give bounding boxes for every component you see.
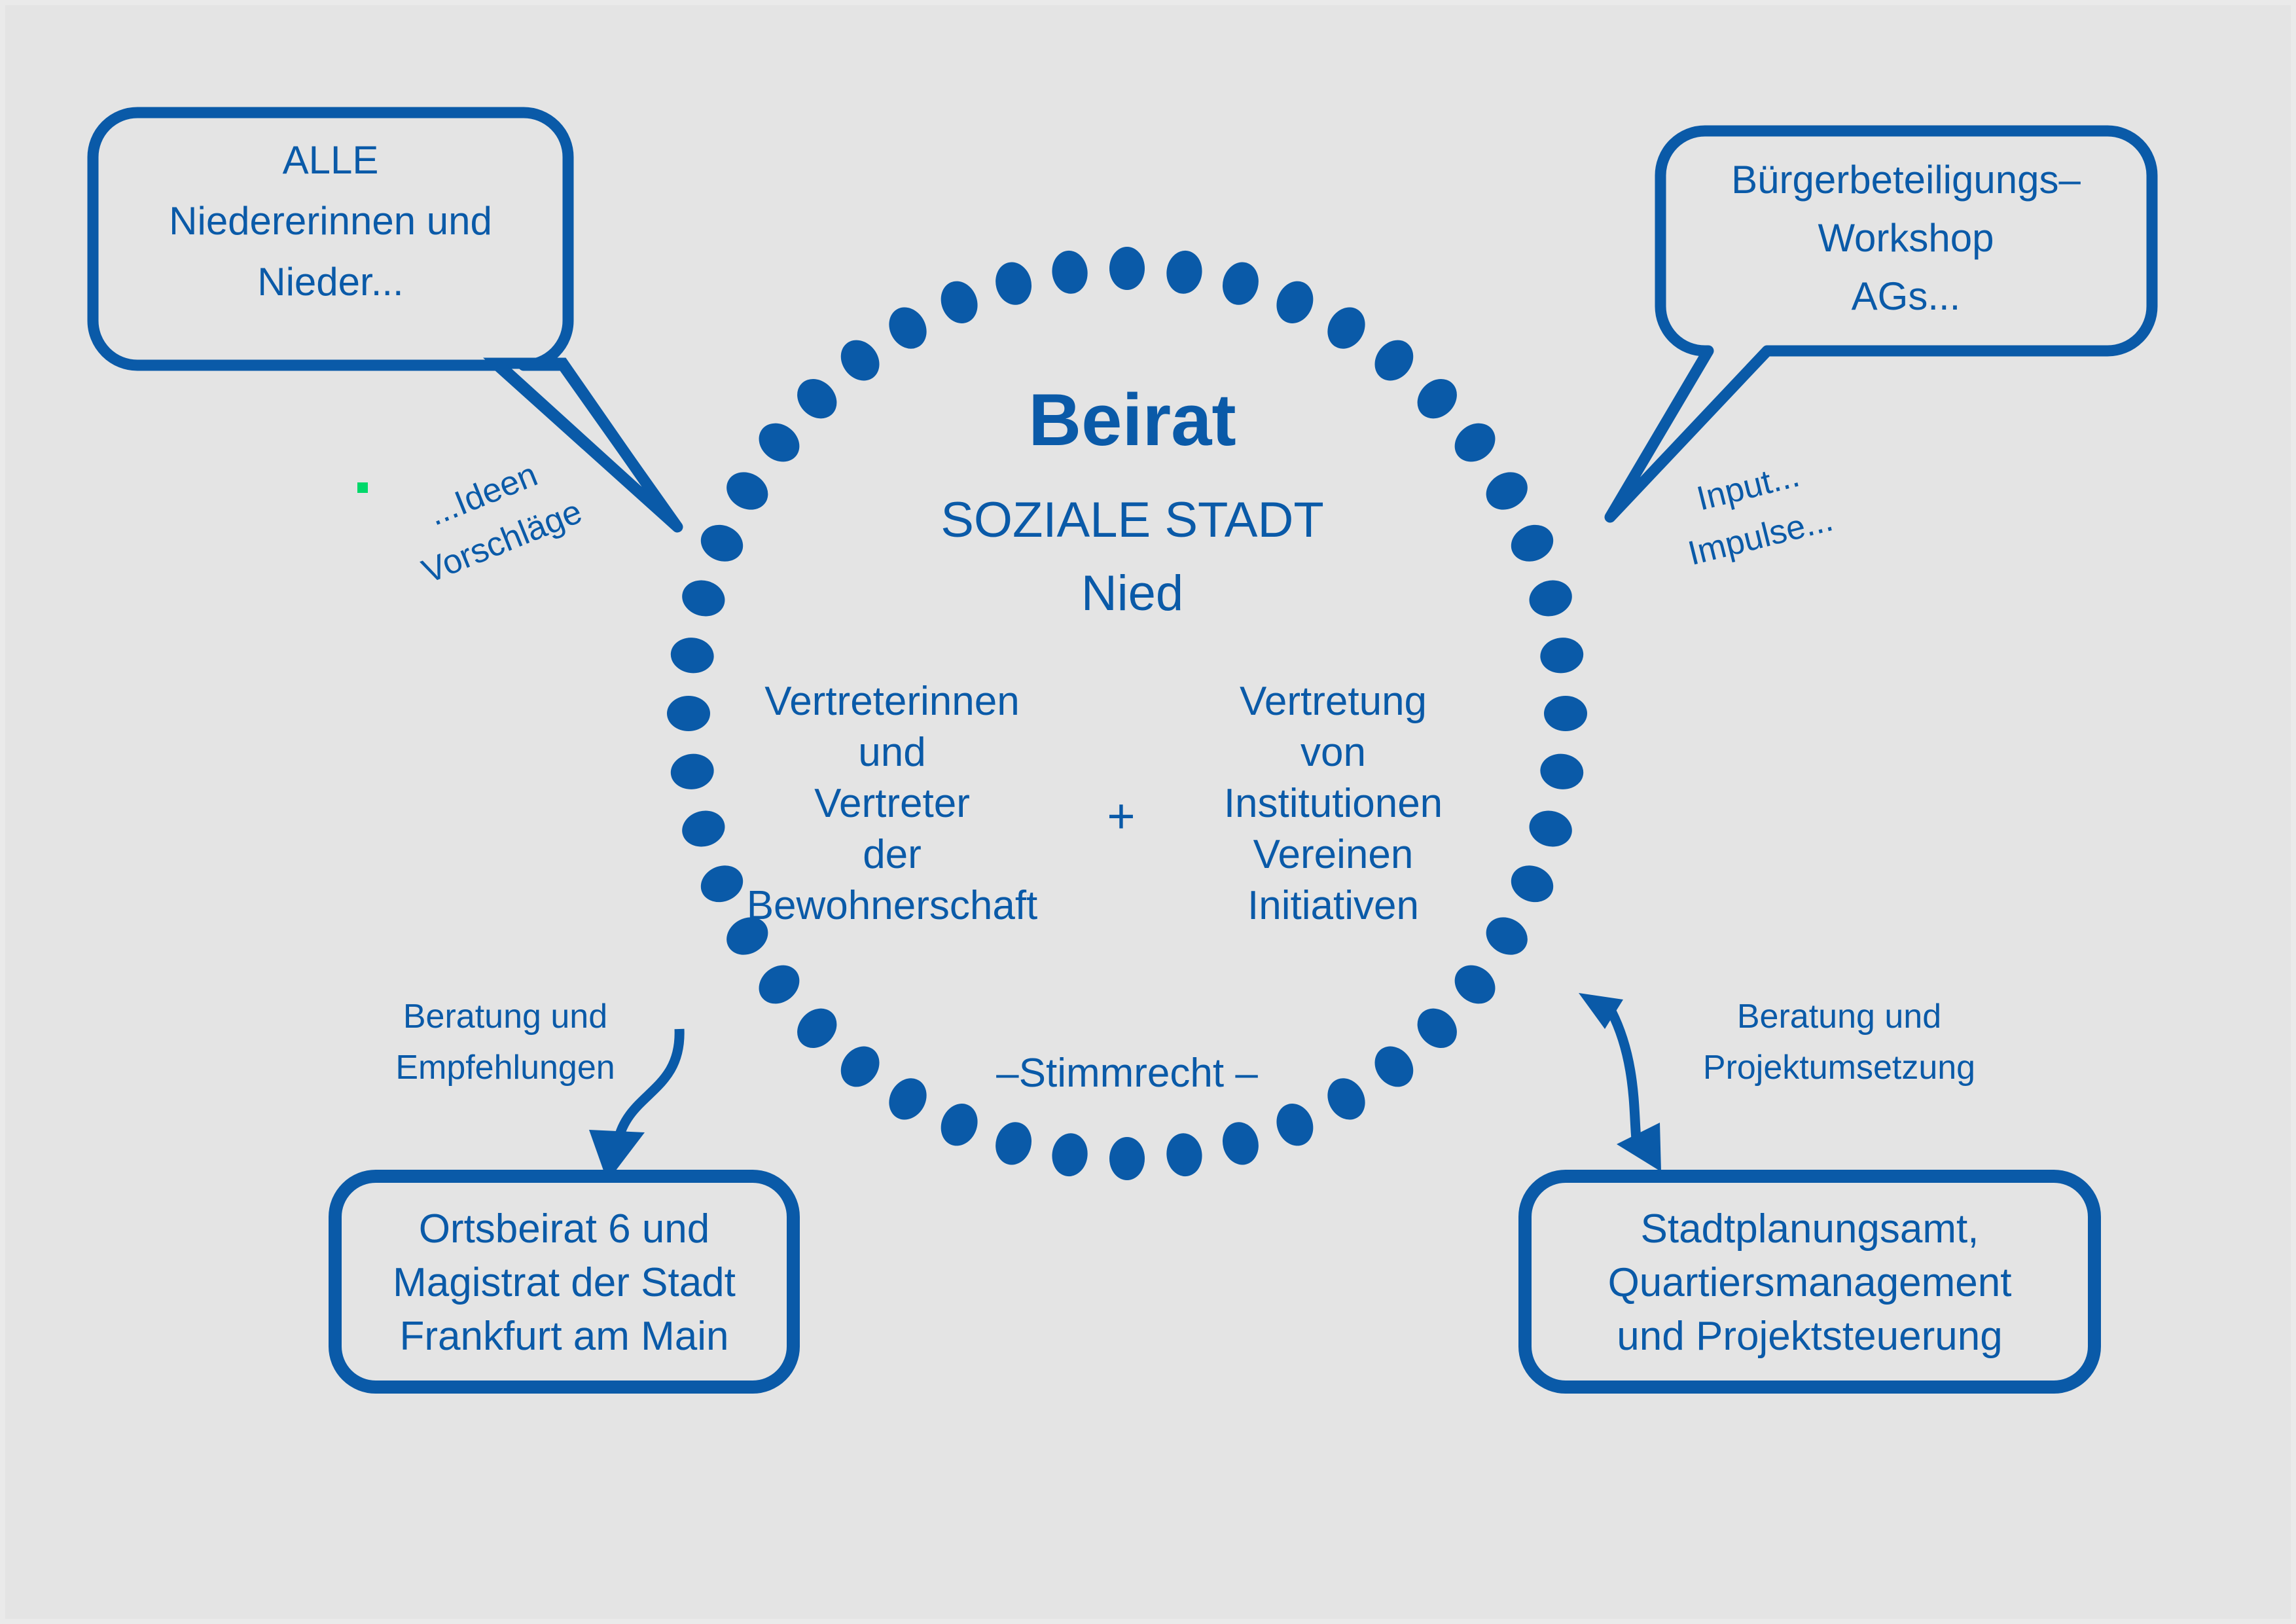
ring-dot [1164, 1131, 1204, 1178]
ring-dot [1505, 518, 1559, 568]
bubble-right-line-2: Workshop [1818, 216, 1994, 260]
left-column-line-4: der [863, 832, 922, 877]
ring-dot [1367, 1039, 1421, 1094]
box-ortsbeirat[interactable]: Ortsbeirat 6 und Magistrat der Stadt Fra… [335, 1176, 793, 1387]
beirat-diagram: ALLE Niedererinnen und Nieder... Bürgerb… [0, 0, 2296, 1624]
left-column-line-2: und [858, 730, 925, 775]
bubble-right-line-1: Bürgerbeteiligungs– [1731, 158, 2081, 202]
ring-dot [935, 1098, 984, 1151]
annotation-beratung-right-line-1: Beratung und [1737, 998, 1941, 1036]
right-column-line-2: von [1300, 730, 1366, 775]
ring-dot [751, 957, 807, 1011]
speech-bubble-alle-niedererinnen[interactable]: ALLE Niedererinnen und Nieder... [93, 113, 677, 527]
annotation-beratung-empfehlungen: Beratung und Empfehlungen [395, 998, 679, 1182]
ring-dot [1525, 575, 1576, 621]
ring-dot [1479, 910, 1534, 962]
ring-dot [1538, 635, 1585, 676]
center-title: Beirat [1028, 379, 1236, 461]
box-ortsbeirat-line-2: Magistrat der Stadt [393, 1260, 736, 1305]
ring-dot [1525, 806, 1576, 851]
ring-dot [1049, 249, 1090, 296]
box-stadtplanungsamt-line-3: und Projektsteuerung [1617, 1314, 2002, 1359]
center-subtitle-line-1: SOZIALE STADT [941, 492, 1324, 548]
right-arrow-shaft [1611, 1011, 1636, 1139]
ring-dot [833, 1039, 888, 1094]
left-column-line-5: Bewohnerschaft [747, 883, 1038, 928]
ring-dot [789, 371, 845, 427]
speech-bubble-outline-left [93, 113, 677, 527]
box-stadtplanungsamt[interactable]: Stadtplanungsamt, Quartiersmanagement un… [1525, 1176, 2094, 1387]
center-content: Beirat SOZIALE STADT Nied Vertreterinnen… [747, 379, 1443, 1096]
annotation-beratung-right-line-2: Projektumsetzung [1703, 1049, 1975, 1087]
annotation-ideen-vorschlaege: ...Ideen Vorschläge [357, 445, 587, 590]
speech-bubble-buergerbeteiligung[interactable]: Bürgerbeteiligungs– Workshop AGs... [1610, 131, 2152, 517]
bubble-left-line-2: Niedererinnen und [169, 199, 492, 243]
ring-dot [1270, 1098, 1319, 1151]
ring-dot [668, 751, 715, 792]
ring-dot [678, 806, 729, 851]
right-column-line-5: Initiativen [1247, 883, 1419, 928]
ring-dot [935, 276, 984, 329]
ring-dot [1270, 276, 1319, 329]
ring-dot [1164, 249, 1204, 296]
ring-dot [1447, 416, 1503, 470]
ring-dot [1320, 1072, 1372, 1127]
ring-dot [751, 416, 807, 470]
ring-dot [882, 300, 934, 355]
plus-symbol: + [1107, 789, 1135, 843]
box-stadtplanungsamt-line-1: Stadtplanungsamt, [1640, 1206, 1979, 1252]
diagram-canvas: ALLE Niedererinnen und Nieder... Bürgerb… [0, 0, 2296, 1624]
left-column-line-1: Vertreterinnen [764, 679, 1019, 724]
ring-dot [789, 1000, 845, 1056]
ring-dot [1320, 300, 1372, 355]
ring-dot [1049, 1131, 1090, 1178]
annotation-beratung-left-line-1: Beratung und [403, 998, 607, 1036]
ring-dot [882, 1072, 934, 1127]
ring-dot [678, 575, 729, 621]
right-column-line-4: Vereinen [1253, 832, 1414, 877]
ring-dot [1409, 1000, 1465, 1056]
box-ortsbeirat-line-3: Frankfurt am Main [399, 1314, 728, 1359]
box-stadtplanungsamt-line-2: Quartiersmanagement [1608, 1260, 2012, 1305]
ring-dot [991, 1118, 1036, 1169]
ring-dot [1505, 859, 1559, 909]
ring-dot [695, 518, 749, 568]
right-column-line-1: Vertretung [1240, 679, 1427, 724]
green-square-marker [357, 482, 368, 493]
ring-dot [991, 258, 1036, 309]
ring-dot [667, 696, 710, 731]
bubble-left-line-1: ALLE [283, 138, 379, 182]
left-column-line-3: Vertreter [814, 781, 970, 826]
bubble-right-line-3: AGs... [1852, 274, 1961, 318]
ring-dot [1479, 465, 1534, 517]
ring-dot [1544, 696, 1587, 731]
ring-dot [1409, 371, 1465, 427]
ring-dot [1367, 333, 1421, 388]
ring-dot [1218, 258, 1263, 309]
ring-dot [1447, 957, 1503, 1011]
annotation-input-line-1: Input... [1693, 456, 1803, 518]
box-ortsbeirat-line-1: Ortsbeirat 6 und [419, 1206, 710, 1252]
ring-dot [668, 635, 715, 676]
ring-dot [1109, 1137, 1145, 1180]
annotation-beratung-projektumsetzung: Beratung und Projektumsetzung [1579, 993, 1975, 1172]
left-arrow-shaft [618, 1029, 679, 1142]
ring-dot [1109, 247, 1145, 290]
stimmrecht-note: –Stimmrecht – [996, 1051, 1258, 1096]
annotation-beratung-left-line-2: Empfehlungen [395, 1049, 615, 1087]
ring-dot [833, 333, 888, 388]
right-column-line-3: Institutionen [1224, 781, 1443, 826]
ring-dot [695, 859, 749, 909]
bubble-left-line-3: Nieder... [257, 260, 403, 304]
ring-dot [1538, 751, 1585, 792]
ring-dot [720, 465, 775, 517]
ring-dot [1218, 1118, 1263, 1169]
center-subtitle-line-2: Nied [1081, 566, 1183, 621]
annotation-input-impulse: Input... Impulse... [1672, 451, 1837, 573]
